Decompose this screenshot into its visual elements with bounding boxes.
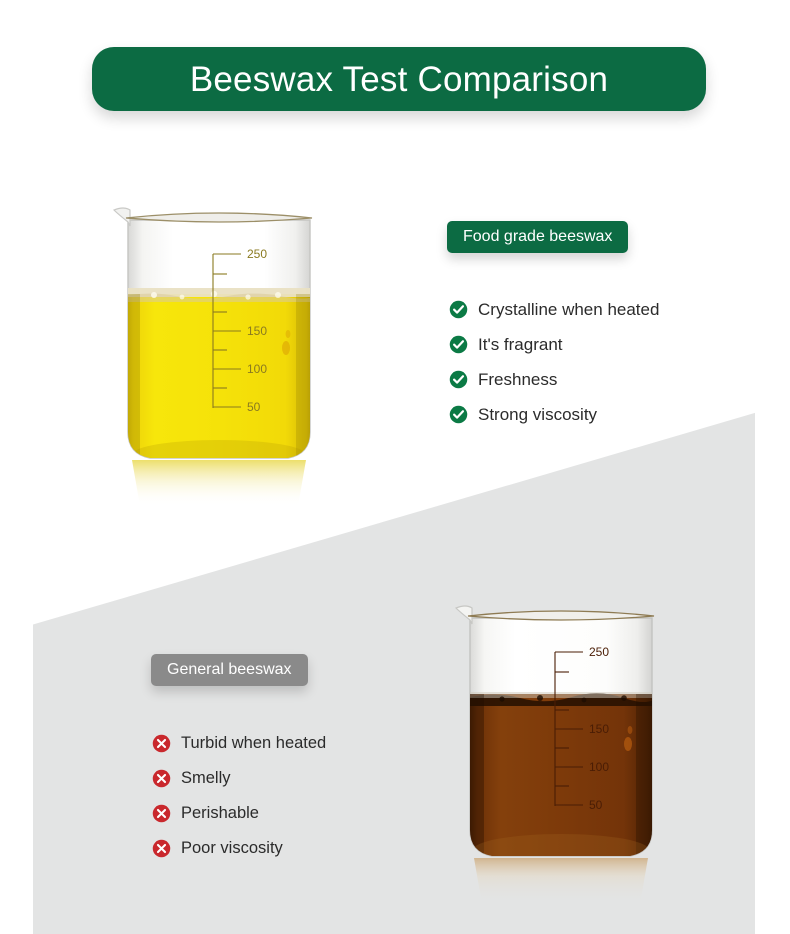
- list-item-label: Crystalline when heated: [478, 301, 659, 318]
- beaker-liquid-yellow: [124, 288, 316, 468]
- list-item-label: Perishable: [181, 805, 259, 822]
- tag-food-grade-beeswax: Food grade beeswax: [447, 221, 628, 253]
- food-grade-feature-list: Crystalline when heated It's fragrant Fr…: [449, 292, 659, 432]
- check-circle-icon: [449, 370, 468, 389]
- tag-food-grade-label: Food grade beeswax: [463, 228, 612, 246]
- list-item: Freshness: [449, 362, 659, 397]
- cross-circle-icon: [152, 734, 171, 753]
- list-item: Poor viscosity: [152, 831, 326, 866]
- list-item-label: Turbid when heated: [181, 735, 326, 752]
- list-item-label: Poor viscosity: [181, 840, 283, 857]
- beaker-reflection: [474, 858, 648, 904]
- list-item: Perishable: [152, 796, 326, 831]
- beaker-liquid-brown: [466, 692, 658, 866]
- tag-general-label: General beeswax: [167, 661, 292, 679]
- beaker-reflection: [132, 460, 306, 506]
- graduation-150: 150: [247, 324, 267, 338]
- graduation-50: 50: [247, 400, 261, 414]
- list-item-label: Smelly: [181, 770, 231, 787]
- cross-circle-icon: [152, 839, 171, 858]
- check-circle-icon: [449, 335, 468, 354]
- graduation-250: 250: [247, 247, 267, 261]
- list-item: It's fragrant: [449, 327, 659, 362]
- cross-circle-icon: [152, 769, 171, 788]
- check-circle-icon: [449, 300, 468, 319]
- cross-circle-icon: [152, 804, 171, 823]
- graduation-250: 250: [589, 645, 609, 659]
- list-item: Turbid when heated: [152, 726, 326, 761]
- food-grade-beeswax-beaker: 250 150 100 50: [110, 196, 328, 506]
- page-title: Beeswax Test Comparison: [190, 62, 608, 97]
- list-item-label: It's fragrant: [478, 336, 563, 353]
- page-title-banner: Beeswax Test Comparison: [92, 47, 706, 111]
- graduation-100: 100: [247, 362, 267, 376]
- general-beeswax-beaker: 250 150 100 50: [452, 594, 670, 904]
- list-item-label: Strong viscosity: [478, 406, 597, 423]
- list-item: Strong viscosity: [449, 397, 659, 432]
- graduation-50: 50: [589, 798, 603, 812]
- graduation-100: 100: [589, 760, 609, 774]
- list-item-label: Freshness: [478, 371, 557, 388]
- list-item: Crystalline when heated: [449, 292, 659, 327]
- tag-general-beeswax: General beeswax: [151, 654, 308, 686]
- check-circle-icon: [449, 405, 468, 424]
- list-item: Smelly: [152, 761, 326, 796]
- graduation-150: 150: [589, 722, 609, 736]
- general-beeswax-feature-list: Turbid when heated Smelly Perishable Poo…: [152, 726, 326, 866]
